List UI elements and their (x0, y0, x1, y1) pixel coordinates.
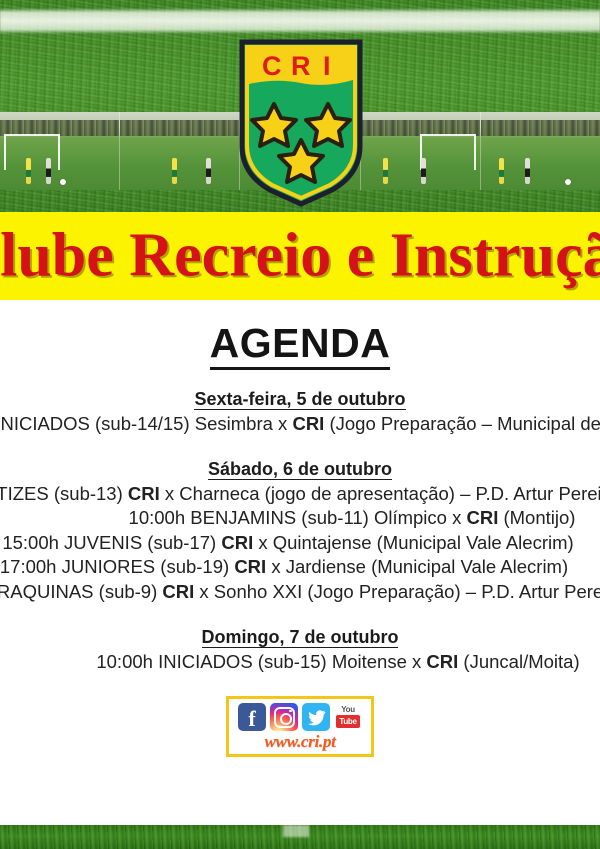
youtube-tube-text: Tube (336, 715, 359, 728)
agenda-match-line: 15:00h JUVENIS (sub-17) CRI x Quintajens… (0, 531, 600, 556)
ball-icon (565, 179, 571, 185)
player-figure (499, 158, 504, 184)
website-link[interactable]: www.cri.pt (234, 732, 366, 752)
club-name-text: Clube Recreio e Instrução (0, 221, 600, 292)
match-suffix: x Quintajense (Municipal Vale Alecrim) (253, 532, 573, 553)
crest-letter-c: C (262, 51, 282, 81)
youtube-you-text: You (341, 706, 355, 714)
agenda-day-block: Sexta-feira, 5 de outubro18:30h INICIADO… (0, 389, 600, 437)
crest-shield-icon: C R I (236, 38, 366, 208)
crest-letter-r: R (291, 51, 311, 81)
goal-frame-icon (420, 134, 476, 170)
match-suffix: (Juncal/Moita) (458, 651, 579, 672)
match-prefix: 09:30h PETIZES (sub-13) (0, 483, 128, 504)
facebook-icon[interactable]: f (238, 703, 266, 731)
agenda-day-heading: Domingo, 7 de outubro (0, 627, 600, 648)
agenda-content: AGENDA Sexta-feira, 5 de outubro18:30h I… (0, 300, 600, 757)
footer-grass-strip (0, 825, 600, 849)
match-prefix: 17:00h TRAQUINAS (sub-9) (0, 581, 162, 602)
match-club-tag: CRI (292, 413, 324, 434)
agenda-day-heading: Sexta-feira, 5 de outubro (0, 389, 600, 410)
match-club-tag: CRI (162, 581, 194, 602)
match-club-tag: CRI (221, 532, 253, 553)
match-prefix: 18:30h INICIADOS (sub-14/15) Sesimbra x (0, 413, 292, 434)
agenda-match-line: 09:30h PETIZES (sub-13) CRI x Charneca (… (0, 482, 600, 507)
social-icons-row: f You Tube (234, 703, 366, 731)
twitter-bird-glyph (307, 708, 326, 727)
player-figure (383, 158, 388, 184)
agenda-day-heading: Sábado, 6 de outubro (0, 459, 600, 480)
player-figure (26, 158, 31, 184)
match-photo (119, 112, 239, 190)
match-prefix: 15:00h JUVENIS (sub-17) (2, 532, 221, 553)
match-prefix: 17:00h JUNIORES (sub-19) (0, 556, 234, 577)
match-suffix: x Sonho XXI (Jogo Preparação) – P.D. Art… (194, 581, 600, 602)
club-crest: C R I (236, 38, 366, 208)
agenda-day-heading-text: Sábado, 6 de outubro (208, 459, 392, 480)
player-figure (206, 158, 211, 184)
crest-letter-i: I (323, 51, 331, 81)
player-figure (172, 158, 177, 184)
agenda-days: Sexta-feira, 5 de outubro18:30h INICIADO… (0, 389, 600, 674)
page-title: AGENDA (0, 320, 600, 367)
header-banner: C R I (0, 0, 600, 212)
match-suffix: (Montijo) (498, 507, 575, 528)
match-suffix: x Charneca (jogo de apresentação) – P.D.… (160, 483, 600, 504)
pitch-mark (283, 825, 309, 837)
agenda-match-line: 17:00h JUNIORES (sub-19) CRI x Jardiense… (0, 555, 600, 580)
match-prefix: 10:00h INICIADOS (sub-15) Moitense x (96, 651, 426, 672)
match-club-tag: CRI (128, 483, 160, 504)
agenda-day-heading-text: Domingo, 7 de outubro (202, 627, 399, 648)
match-photo (360, 112, 480, 190)
social-footer-box: f You Tube www.cri.pt (226, 696, 374, 757)
instagram-icon[interactable] (270, 703, 298, 731)
agenda-day-heading-text: Sexta-feira, 5 de outubro (194, 389, 405, 410)
agenda-match-line: 10:00h INICIADOS (sub-15) Moitense x CRI… (0, 650, 600, 675)
match-club-tag: CRI (426, 651, 458, 672)
crowd-band (120, 120, 239, 136)
agenda-day-block: Domingo, 7 de outubro10:00h INICIADOS (s… (0, 627, 600, 675)
player-figure (421, 158, 426, 184)
youtube-icon[interactable]: You Tube (334, 703, 362, 731)
match-suffix: x Jardiense (Municipal Vale Alecrim) (266, 556, 568, 577)
agenda-match-line: 18:30h INICIADOS (sub-14/15) Sesimbra x … (0, 412, 600, 437)
match-suffix: (Jogo Preparação – Municipal de Sesimbra… (324, 413, 600, 434)
player-figure (46, 158, 51, 184)
agenda-match-line: 10:00h BENJAMINS (sub-11) Olímpico x CRI… (0, 506, 600, 531)
pitch-line (0, 8, 600, 34)
match-club-tag: CRI (234, 556, 266, 577)
match-photo (0, 112, 119, 190)
page-title-text: AGENDA (210, 320, 391, 370)
player-figure (525, 158, 530, 184)
club-name-banner: Clube Recreio e Instrução (0, 212, 600, 300)
twitter-icon[interactable] (302, 703, 330, 731)
agenda-day-block: Sábado, 6 de outubro09:30h PETIZES (sub-… (0, 459, 600, 605)
goal-frame-icon (4, 134, 60, 170)
crowd-band (481, 120, 600, 136)
match-club-tag: CRI (466, 507, 498, 528)
match-photo (480, 112, 600, 190)
match-prefix: 10:00h BENJAMINS (sub-11) Olímpico x (129, 507, 467, 528)
ball-icon (60, 179, 66, 185)
facebook-glyph: f (248, 708, 255, 730)
agenda-match-line: 17:00h TRAQUINAS (sub-9) CRI x Sonho XXI… (0, 580, 600, 605)
